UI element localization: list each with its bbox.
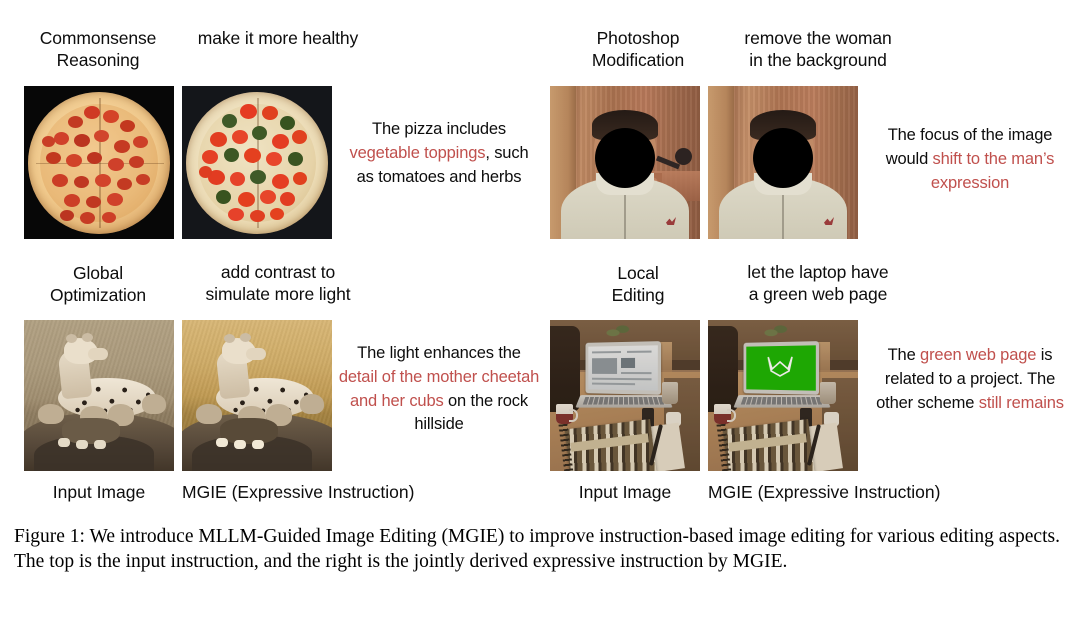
- task-label-global: Global Optimization: [22, 262, 174, 306]
- expressive-instruction-global: The light enhances the detail of the mot…: [336, 342, 542, 437]
- instruction-line1: remove the woman: [718, 27, 918, 49]
- task-label-line1: Commonsense: [22, 27, 174, 49]
- figure-panel: Commonsense Reasoning make it more healt…: [0, 0, 1080, 518]
- instruction-line1: add contrast to: [178, 261, 378, 283]
- task-label-line1: Global: [22, 262, 174, 284]
- expr-highlight-0: vegetable toppings: [350, 144, 486, 162]
- task-label-local: Local Editing: [562, 262, 714, 306]
- expr-part-0: The pizza includes: [372, 120, 506, 138]
- example-global-optimization: Global Optimization add contrast to simu…: [0, 258, 540, 320]
- instruction-global: add contrast to simulate more light: [178, 261, 378, 305]
- image-desk-laptop-green-screen: [708, 320, 858, 471]
- expressive-instruction-local: The green web page is related to a proje…: [866, 344, 1074, 415]
- example-photoshop-modification: Photoshop Modification remove the woman …: [540, 24, 1080, 86]
- image-vegetable-pizza: [182, 86, 332, 239]
- example-local-editing: Local Editing let the laptop have a gree…: [540, 258, 1080, 320]
- woman-in-background: [658, 148, 692, 174]
- instruction-photoshop: remove the woman in the background: [718, 27, 918, 71]
- task-label-line2: Optimization: [22, 284, 174, 306]
- instruction-local: let the laptop have a green web page: [718, 261, 918, 305]
- expr-part-0: The light enhances the: [357, 344, 521, 362]
- image-desk-laptop-original: [550, 320, 700, 471]
- caption-input-image-left: Input Image: [24, 482, 174, 503]
- caption-input-image-right: Input Image: [550, 482, 700, 503]
- column-captions: Input Image MGIE (Expressive Instruction…: [0, 482, 1080, 512]
- task-label-line1: Local: [562, 262, 714, 284]
- face-redaction-circle: [595, 128, 655, 188]
- image-cheetah-original: [24, 320, 174, 471]
- task-label-commonsense: Commonsense Reasoning: [22, 27, 174, 71]
- caption-mgie-right: MGIE (Expressive Instruction): [708, 482, 1008, 503]
- expr-highlight-0: green web page: [920, 346, 1036, 364]
- task-label-line2: Modification: [562, 49, 714, 71]
- panel-headers: Global Optimization add contrast to simu…: [0, 258, 540, 320]
- task-label-line2: Editing: [562, 284, 714, 306]
- task-label-line2: Reasoning: [22, 49, 174, 71]
- instruction-line2: a green web page: [718, 283, 918, 305]
- caption-mgie-left: MGIE (Expressive Instruction): [182, 482, 482, 503]
- image-man-clean-background: [708, 86, 858, 239]
- instruction-commonsense: make it more healthy: [178, 27, 378, 49]
- instruction-line2: in the background: [718, 49, 918, 71]
- image-cheetah-enhanced: [182, 320, 332, 471]
- expressive-instruction-photoshop: The focus of the image would shift to th…: [866, 124, 1074, 195]
- panel-headers: Local Editing let the laptop have a gree…: [540, 258, 1080, 320]
- face-redaction-circle: [753, 128, 813, 188]
- image-man-with-background: [550, 86, 700, 239]
- task-label-photoshop: Photoshop Modification: [562, 27, 714, 71]
- expr-part-0: The: [888, 346, 920, 364]
- example-commonsense-reasoning: Commonsense Reasoning make it more healt…: [0, 24, 540, 86]
- expr-highlight-1: still remains: [979, 394, 1064, 412]
- instruction-line2: simulate more light: [178, 283, 378, 305]
- expr-highlight-0: shift to the man’s expression: [931, 150, 1054, 192]
- figure-caption: Figure 1: We introduce MLLM-Guided Image…: [14, 524, 1068, 575]
- panel-headers: Photoshop Modification remove the woman …: [540, 24, 1080, 86]
- instruction-line1: let the laptop have: [718, 261, 918, 283]
- expressive-instruction-commonsense: The pizza includes vegetable toppings, s…: [340, 118, 538, 189]
- task-label-line1: Photoshop: [562, 27, 714, 49]
- panel-headers: Commonsense Reasoning make it more healt…: [0, 24, 540, 86]
- image-pepperoni-pizza: [24, 86, 174, 239]
